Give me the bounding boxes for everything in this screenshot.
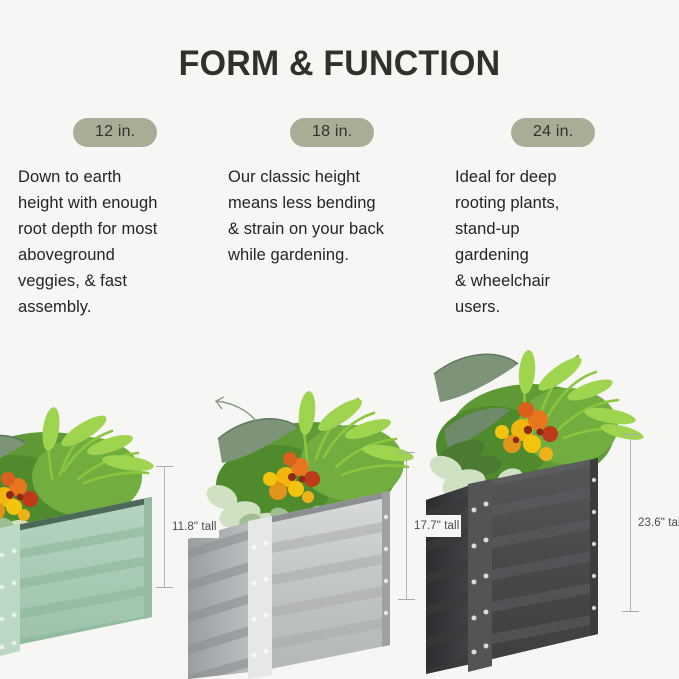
dimension-line <box>164 466 165 588</box>
feature-column-24in: 24 in. Ideal for deep rooting plants, st… <box>455 118 670 320</box>
height-badge-24in: 24 in. <box>511 118 595 147</box>
dimension-label-12in: 11.8" tall <box>168 516 219 538</box>
dimension-callout-24in: 23.6" tall <box>622 434 679 612</box>
dimension-callout-18in: 17.7" tall <box>398 452 468 600</box>
height-badge-18in: 18 in. <box>290 118 374 147</box>
product-photo-row <box>0 330 679 679</box>
dimension-cap-bottom <box>622 611 639 612</box>
dimension-line <box>630 434 631 612</box>
feature-description-12in: Down to earth height with enough root de… <box>18 164 223 320</box>
product-image-sage-green-raised-garden-bed <box>0 379 177 679</box>
feature-column-18in: 18 in. Our classic height means less ben… <box>228 118 438 268</box>
dimension-callout-12in: 11.8" tall <box>156 466 226 588</box>
product-image-silver-raised-garden-bed <box>212 367 427 679</box>
product-image-charcoal-raised-garden-bed <box>440 334 640 679</box>
dimension-label-18in: 17.7" tall <box>410 515 461 537</box>
feature-column-12in: 12 in. Down to earth height with enough … <box>18 118 223 320</box>
feature-description-24in: Ideal for deep rooting plants, stand-up … <box>455 164 670 320</box>
dimension-label-24in: 23.6" tall <box>634 512 679 534</box>
feature-description-18in: Our classic height means less bending & … <box>228 164 438 268</box>
infographic-canvas: FORM & FUNCTION 12 in. Down to earth hei… <box>0 0 679 679</box>
dimension-line <box>406 452 407 600</box>
page-title: FORM & FUNCTION <box>10 44 669 84</box>
dimension-cap-bottom <box>156 587 173 588</box>
dimension-cap-bottom <box>398 599 415 600</box>
height-badge-12in: 12 in. <box>73 118 157 147</box>
